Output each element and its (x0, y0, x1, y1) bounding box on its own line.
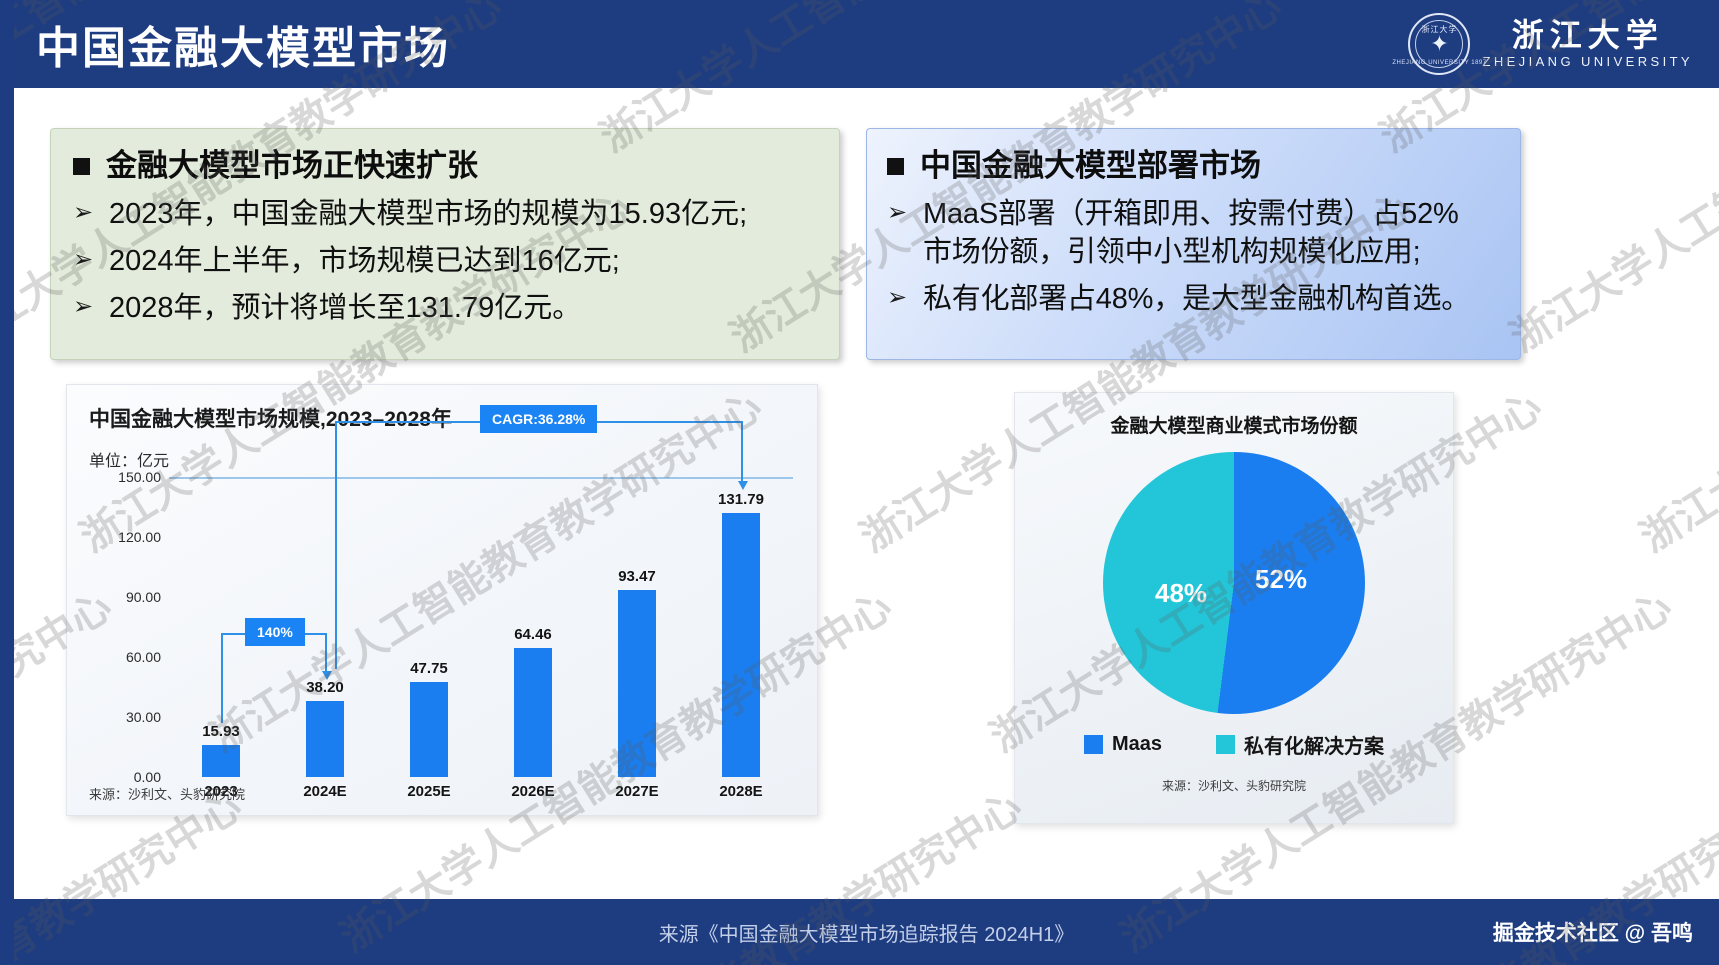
bar-rect[interactable] (618, 590, 656, 777)
bar-chart-title: 中国金融大模型市场规模,2023–2028年 (89, 403, 797, 433)
legend-label-private: 私有化解决方案 (1244, 730, 1384, 759)
seal-center-icon: ✦ (1430, 33, 1448, 55)
pie-slice-label-private: 48% (1155, 578, 1207, 609)
left-bullet-item: ➢ 2024年上半年，市场规模已达到16亿元; (73, 242, 819, 280)
left-callout-heading: 金融大模型市场正快速扩张 (106, 147, 478, 186)
bar-value-label: 15.93 (202, 723, 240, 740)
left-bullet-text: 2028年，预计将增长至131.79亿元。 (109, 289, 581, 327)
bar-value-label: 64.46 (514, 626, 552, 643)
bar-chart-bar-group[interactable]: 131.79 (694, 491, 788, 777)
university-name-en: ZHEJIANG UNIVERSITY (1482, 54, 1693, 69)
bar-value-label: 38.20 (306, 679, 344, 696)
arrow-bullet-icon: ➢ (887, 201, 909, 225)
watermark-text: 浙江大学人工智能教育教学研究中心 (1627, 175, 1719, 563)
bar-chart-plot-area: 0.0030.0060.0090.00120.00150.00 15.9338.… (89, 477, 801, 777)
arrow-bullet-icon: ➢ (887, 286, 909, 310)
bar-chart-x-tick: 2024E (278, 783, 372, 800)
pie-chart-circle (1103, 452, 1365, 714)
bar-chart-x-tick: 2026E (486, 783, 580, 800)
right-bullet-text-group: MaaS部署（开箱即用、按需付费）占52% 市场份额，引领中小型机构规模化应用; (923, 195, 1459, 272)
annotation-tag-cagr: CAGR:36.28% (480, 405, 597, 433)
right-callout-box: 中国金融大模型部署市场 ➢ MaaS部署（开箱即用、按需付费）占52% 市场份额… (866, 128, 1521, 360)
bar-rect[interactable] (514, 648, 552, 777)
slide-header: 中国金融大模型市场 浙江大学 ✦ ZHEJIANG UNIVERSITY 189… (14, 0, 1719, 88)
legend-item-maas: Maas (1084, 730, 1162, 759)
slide-root: 中国金融大模型市场 浙江大学 ✦ ZHEJIANG UNIVERSITY 189… (0, 0, 1719, 965)
pie-slice-label-maas: 52% (1255, 564, 1307, 595)
annotation-connector-cagr (741, 421, 743, 481)
right-bullet-item: ➢ 私有化部署占48%，是大型金融机构首选。 (887, 280, 1504, 318)
page-title: 中国金融大模型市场 (36, 12, 450, 76)
bar-rect[interactable] (202, 745, 240, 777)
bar-chart-bar-group[interactable]: 64.46 (486, 626, 580, 777)
left-bullet-text: 2023年，中国金融大模型市场的规模为15.93亿元; (109, 195, 747, 233)
university-name-cn: 浙江大学 (1512, 19, 1664, 53)
bar-value-label: 47.75 (410, 660, 448, 677)
bar-chart-bar-group[interactable]: 38.20 (278, 679, 372, 777)
university-wordmark: 浙江大学 ZHEJIANG UNIVERSITY (1482, 19, 1693, 70)
right-bullet-text-line: MaaS部署（开箱即用、按需付费）占52% (923, 195, 1459, 233)
legend-swatch-private (1216, 735, 1235, 754)
left-callout-heading-row: 金融大模型市场正快速扩张 (73, 147, 819, 186)
bar-value-label: 93.47 (618, 568, 656, 585)
pie-chart-plot-area: 52% 48% (1103, 452, 1365, 714)
right-bullet-text-line: 私有化部署占48%，是大型金融机构首选。 (923, 280, 1470, 318)
annotation-arrow-140 (322, 671, 332, 680)
legend-label-maas: Maas (1112, 733, 1162, 756)
bar-chart-x-axis-line (169, 477, 793, 479)
pie-chart-title: 金融大模型商业模式市场份额 (1015, 411, 1453, 438)
left-callout-box: 金融大模型市场正快速扩张 ➢ 2023年，中国金融大模型市场的规模为15.93亿… (50, 128, 840, 360)
pie-chart-source: 来源：沙利文、头豹研究院 (1015, 777, 1453, 794)
right-bullet-item: ➢ MaaS部署（开箱即用、按需付费）占52% 市场份额，引领中小型机构规模化应… (887, 195, 1504, 272)
legend-swatch-maas (1084, 735, 1103, 754)
bar-chart-x-tick: 2025E (382, 783, 476, 800)
bar-chart-unit-label: 单位：亿元 (89, 447, 797, 471)
left-bullet-item: ➢ 2028年，预计将增长至131.79亿元。 (73, 289, 819, 327)
arrow-bullet-icon: ➢ (73, 201, 95, 225)
bar-chart-bar-group[interactable]: 93.47 (590, 568, 684, 777)
annotation-connector-cagr (335, 421, 337, 669)
bar-chart-y-tick: 60.00 (89, 649, 161, 665)
left-bullet-text: 2024年上半年，市场规模已达到16亿元; (109, 242, 620, 280)
bar-rect[interactable] (306, 701, 344, 777)
bar-rect[interactable] (410, 682, 448, 778)
seal-bottom-text: ZHEJIANG UNIVERSITY 1897 (1392, 60, 1486, 66)
bar-rect[interactable] (722, 513, 760, 777)
bar-chart-y-tick: 90.00 (89, 589, 161, 605)
bar-chart-x-tick: 2028E (694, 783, 788, 800)
annotation-tag-140: 140% (245, 618, 305, 646)
legend-item-private: 私有化解决方案 (1216, 730, 1384, 759)
university-seal-icon: 浙江大学 ✦ ZHEJIANG UNIVERSITY 1897 (1408, 13, 1470, 75)
zhejiang-university-logo: 浙江大学 ✦ ZHEJIANG UNIVERSITY 1897 浙江大学 ZHE… (1408, 13, 1693, 75)
annotation-connector-140 (325, 633, 327, 671)
bar-chart-source: 来源：沙利文、头豹研究院 (89, 784, 245, 803)
bar-chart-x-tick: 2027E (590, 783, 684, 800)
footer-source-text: 来源《中国金融大模型市场追踪报告 2024H1》 (659, 918, 1075, 947)
bar-chart-y-tick: 150.00 (89, 469, 161, 485)
bar-chart-card: 中国金融大模型市场规模,2023–2028年 单位：亿元 0.0030.0060… (66, 384, 818, 816)
bar-chart-y-tick: 120.00 (89, 529, 161, 545)
pie-chart-legend: Maas 私有化解决方案 (1015, 730, 1453, 759)
bar-chart-y-tick: 30.00 (89, 709, 161, 725)
bar-chart-bar-group[interactable]: 47.75 (382, 660, 476, 778)
bar-value-label: 131.79 (718, 491, 764, 508)
right-bullet-text-line: 市场份额，引领中小型机构规模化应用; (923, 233, 1459, 271)
right-callout-heading: 中国金融大模型部署市场 (920, 147, 1261, 186)
arrow-bullet-icon: ➢ (73, 248, 95, 272)
bar-chart-bar-group[interactable]: 15.93 (174, 723, 268, 777)
footer-watermark-text: 掘金技术社区 @ 吾鸣 (1493, 917, 1693, 947)
pie-chart-card: 金融大模型商业模式市场份额 52% 48% Maas 私有化解决方案 来源：沙利… (1014, 392, 1454, 824)
right-callout-heading-row: 中国金融大模型部署市场 (887, 147, 1504, 186)
left-bullet-item: ➢ 2023年，中国金融大模型市场的规模为15.93亿元; (73, 195, 819, 233)
square-bullet-icon (887, 158, 904, 175)
square-bullet-icon (73, 158, 90, 175)
annotation-arrow-cagr (738, 481, 748, 490)
slide-footer: 来源《中国金融大模型市场追踪报告 2024H1》 掘金技术社区 @ 吾鸣 (14, 899, 1719, 965)
arrow-bullet-icon: ➢ (73, 295, 95, 319)
annotation-connector-140 (221, 633, 223, 723)
